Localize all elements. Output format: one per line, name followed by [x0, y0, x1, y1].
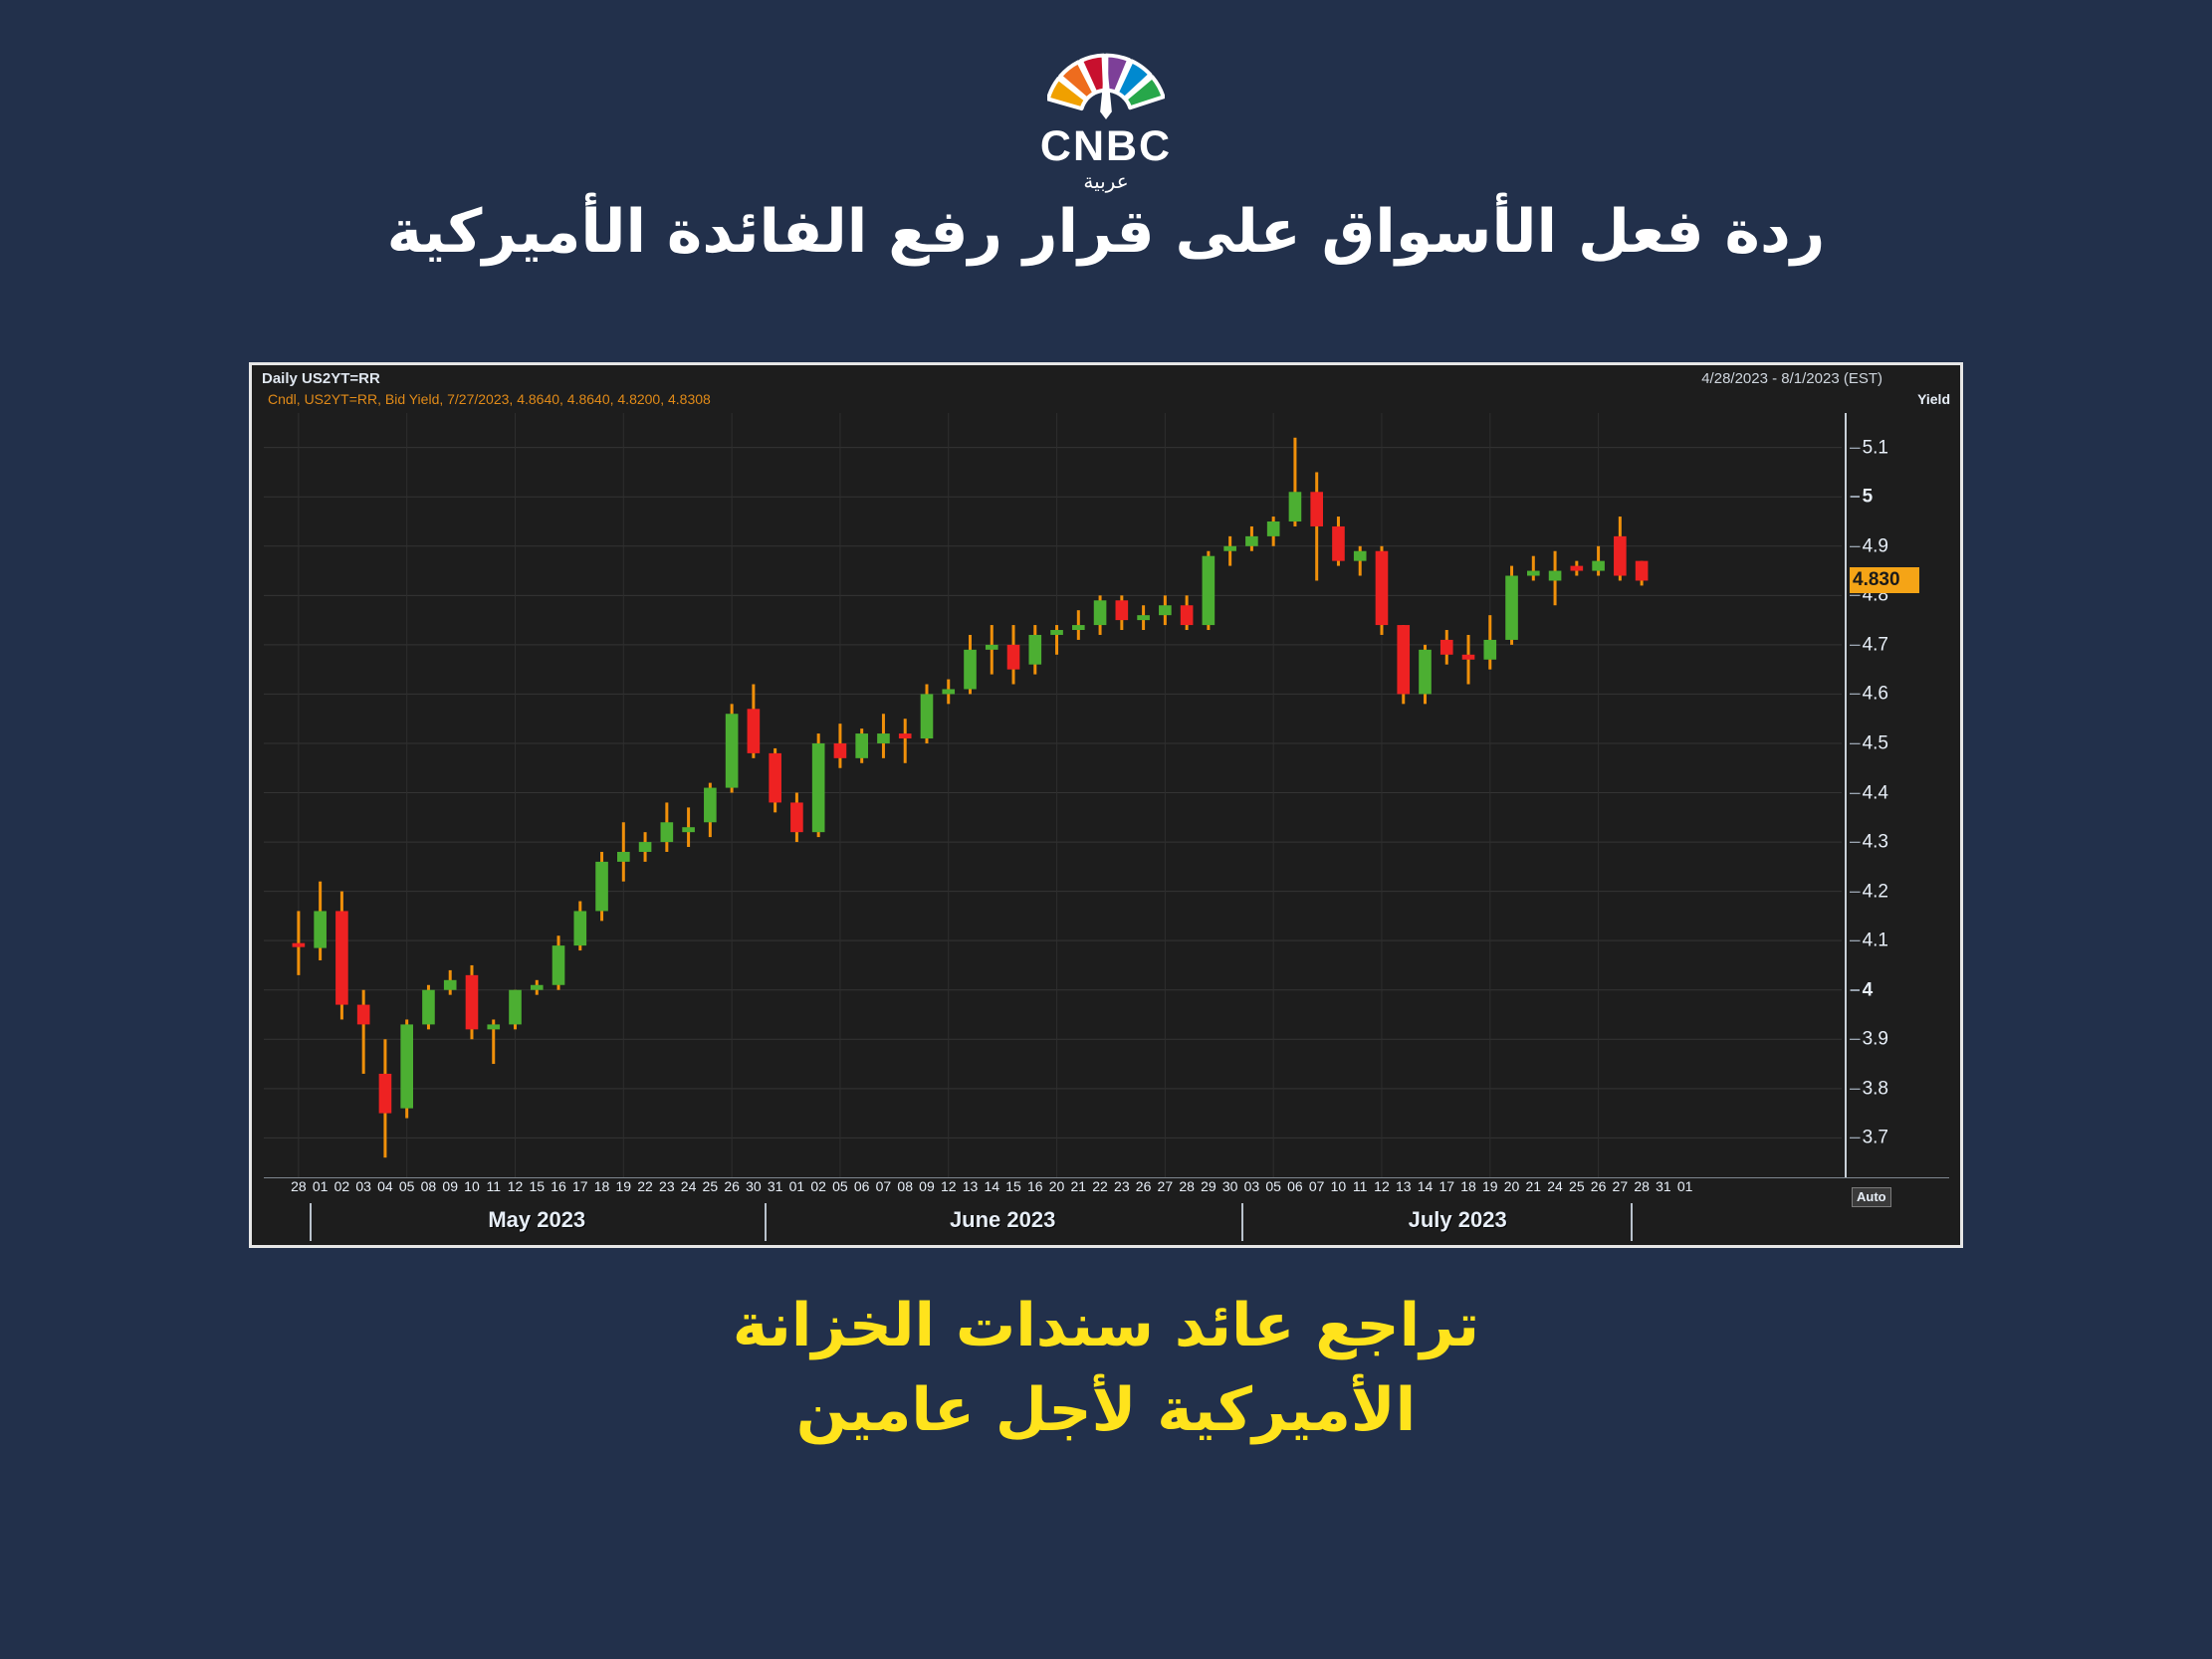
chart-symbol-title: Daily US2YT=RR — [262, 370, 380, 387]
x-axis-tick: 10 — [464, 1179, 480, 1193]
x-axis-tick: 10 — [1331, 1179, 1347, 1193]
x-axis-tick: 29 — [1201, 1179, 1217, 1193]
month-label: July 2023 — [1409, 1207, 1507, 1233]
x-axis-tick: 16 — [551, 1179, 566, 1193]
x-axis-tick: 31 — [1656, 1179, 1671, 1193]
y-axis-tick: –3.7 — [1850, 1129, 1949, 1147]
x-axis-tick: 23 — [1114, 1179, 1130, 1193]
x-axis-tick: 08 — [421, 1179, 437, 1193]
x-axis-dates[interactable]: 2801020304050809101112151617181922232425… — [264, 1177, 1842, 1245]
y-axis-tick: –4.1 — [1850, 932, 1949, 950]
x-axis-tick: 15 — [529, 1179, 545, 1193]
y-axis-tick: –4.9 — [1850, 536, 1949, 555]
last-price-flag: 4.830 — [1850, 567, 1919, 593]
x-axis-tick: 01 — [789, 1179, 805, 1193]
x-axis-tick: 28 — [291, 1179, 307, 1193]
x-axis-tick: 12 — [941, 1179, 957, 1193]
x-axis-tick: 09 — [442, 1179, 458, 1193]
x-axis-tick: 21 — [1071, 1179, 1087, 1193]
x-axis-tick: 27 — [1613, 1179, 1629, 1193]
y-axis-tick: –4 — [1850, 980, 1949, 999]
yield-axis-label: Yield — [1917, 391, 1950, 407]
auto-scale-button[interactable]: Auto — [1852, 1187, 1891, 1207]
x-axis-tick: 14 — [1418, 1179, 1434, 1193]
x-axis-tick: 28 — [1634, 1179, 1650, 1193]
caption-line-1: تراجع عائد سندات الخزانة — [0, 1284, 2212, 1368]
nbc-peacock-icon — [1047, 36, 1165, 121]
month-separator — [765, 1203, 767, 1241]
x-axis-tick: 08 — [897, 1179, 913, 1193]
brand-logo: CNBC عربية — [0, 36, 2212, 191]
x-axis-tick: 22 — [637, 1179, 653, 1193]
chart-date-range: 4/28/2023 - 8/1/2023 (EST) — [1701, 370, 1882, 387]
x-axis-tick: 20 — [1504, 1179, 1520, 1193]
chart-topbar: Daily US2YT=RR 4/28/2023 - 8/1/2023 (EST… — [252, 365, 1960, 413]
x-axis-tick: 02 — [810, 1179, 826, 1193]
x-axis-tick: 18 — [594, 1179, 610, 1193]
x-axis-tick: 27 — [1158, 1179, 1174, 1193]
axis-divider — [1845, 413, 1847, 1177]
cnbc-arabic-wordmark: عربية — [1083, 171, 1128, 191]
x-axis-tick: 25 — [1569, 1179, 1585, 1193]
x-axis-tick: 26 — [724, 1179, 740, 1193]
x-axis-tick: 11 — [1353, 1179, 1368, 1193]
candlestick-chart-panel: Daily US2YT=RR 4/28/2023 - 8/1/2023 (EST… — [249, 362, 1963, 1248]
x-axis-tick: 12 — [508, 1179, 524, 1193]
x-axis-tick: 26 — [1591, 1179, 1607, 1193]
x-axis-tick: 11 — [486, 1179, 501, 1193]
x-axis-tick: 13 — [1396, 1179, 1412, 1193]
x-axis-tick: 05 — [832, 1179, 848, 1193]
x-axis-tick: 17 — [1438, 1179, 1454, 1193]
cnbc-wordmark: CNBC — [1040, 125, 1172, 168]
x-axis-tick: 01 — [1677, 1179, 1693, 1193]
y-axis-tick: –4.6 — [1850, 685, 1949, 704]
x-axis-tick: 31 — [768, 1179, 783, 1193]
x-axis-tick: 26 — [1136, 1179, 1152, 1193]
x-axis-tick: 28 — [1179, 1179, 1195, 1193]
y-axis-tick: –4.3 — [1850, 833, 1949, 852]
month-separator — [1241, 1203, 1243, 1241]
x-axis-tick: 23 — [659, 1179, 675, 1193]
y-axis-tick: –4.4 — [1850, 783, 1949, 802]
chart-plot-area[interactable] — [264, 413, 1842, 1177]
caption-line-2: الأميركية لأجل عامين — [0, 1368, 2212, 1453]
x-axis-tick: 01 — [313, 1179, 329, 1193]
x-axis-tick: 05 — [399, 1179, 415, 1193]
x-axis-tick: 21 — [1526, 1179, 1542, 1193]
x-axis-tick: 09 — [919, 1179, 935, 1193]
x-axis-tick: 19 — [616, 1179, 632, 1193]
candlestick-series — [264, 413, 1842, 1177]
x-axis-tick: 24 — [1547, 1179, 1563, 1193]
month-separator — [310, 1203, 312, 1241]
x-axis-tick: 22 — [1092, 1179, 1108, 1193]
x-axis-tick: 30 — [1222, 1179, 1238, 1193]
x-axis-tick: 07 — [876, 1179, 892, 1193]
x-axis-tick: 16 — [1027, 1179, 1043, 1193]
x-axis-tick: 15 — [1005, 1179, 1021, 1193]
x-axis-tick: 05 — [1265, 1179, 1281, 1193]
y-axis-tick: –4.2 — [1850, 882, 1949, 901]
x-axis-tick: 17 — [572, 1179, 588, 1193]
y-axis-tick: –3.9 — [1850, 1030, 1949, 1049]
x-axis-tick: 18 — [1460, 1179, 1476, 1193]
y-axis-tick: –4.7 — [1850, 635, 1949, 654]
x-axis-tick: 06 — [1287, 1179, 1303, 1193]
x-axis-tick: 03 — [1244, 1179, 1260, 1193]
x-axis-tick: 04 — [377, 1179, 393, 1193]
y-axis-tick: –3.8 — [1850, 1079, 1949, 1098]
y-axis-tick: –5 — [1850, 488, 1949, 507]
x-axis-tick: 24 — [681, 1179, 697, 1193]
x-axis-tick: 30 — [746, 1179, 762, 1193]
bottom-caption: تراجع عائد سندات الخزانة الأميركية لأجل … — [0, 1284, 2212, 1453]
month-label: June 2023 — [950, 1207, 1055, 1233]
x-axis-tick: 12 — [1374, 1179, 1390, 1193]
y-axis-tick: –5.1 — [1850, 438, 1949, 457]
x-axis-tick: 06 — [854, 1179, 870, 1193]
month-label: May 2023 — [488, 1207, 585, 1233]
page-headline: ردة فعل الأسواق على قرار رفع الفائدة الأ… — [0, 197, 2212, 267]
x-axis-tick: 14 — [984, 1179, 999, 1193]
x-axis-tick: 02 — [334, 1179, 350, 1193]
x-axis-tick: 20 — [1049, 1179, 1065, 1193]
x-axis-tick: 03 — [355, 1179, 371, 1193]
x-axis-tick: 13 — [963, 1179, 979, 1193]
y-axis-yield[interactable]: Auto –5.1–5–4.9–4.8–4.7–4.6–4.5–4.4–4.3–… — [1850, 413, 1949, 1177]
x-axis-tick: 19 — [1482, 1179, 1498, 1193]
chart-legend-line: Cndl, US2YT=RR, Bid Yield, 7/27/2023, 4.… — [268, 391, 711, 407]
y-axis-tick: –4.5 — [1850, 733, 1949, 752]
x-axis-tick: 07 — [1309, 1179, 1325, 1193]
x-axis-tick: 25 — [703, 1179, 719, 1193]
month-separator — [1631, 1203, 1633, 1241]
